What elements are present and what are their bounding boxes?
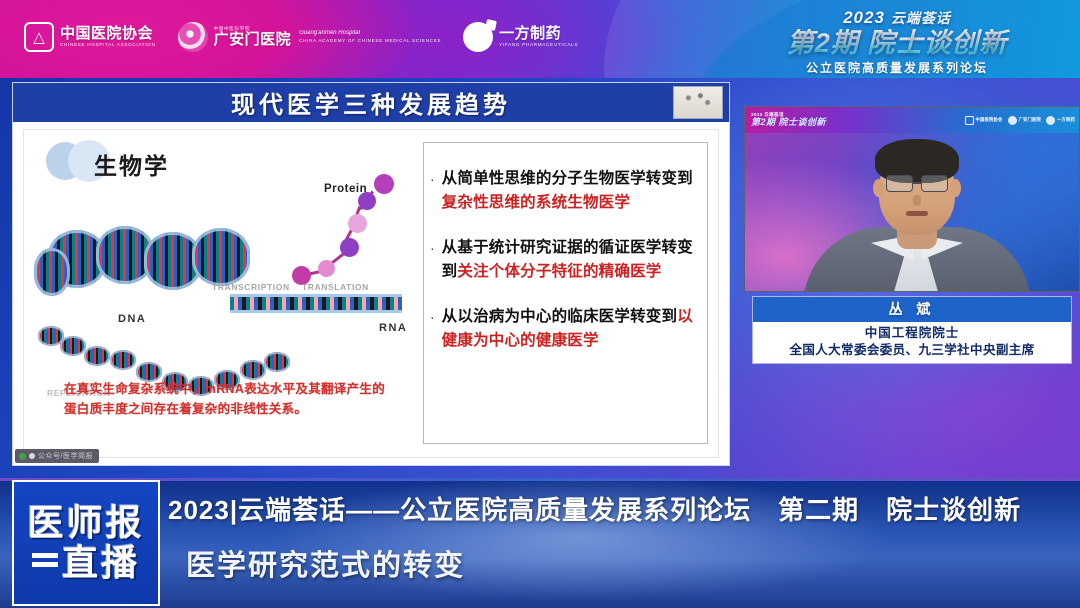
watermark-text: 公众号/医学简报	[38, 451, 93, 461]
bullet-item: · 从简单性思维的分子生物医学转变到复杂性思维的系统生物医学	[430, 167, 697, 214]
yifang-pharmaceutical-icon	[463, 22, 493, 52]
slide-title: 现代医学三种发展趋势	[231, 85, 511, 120]
broadcaster-live-label: 直播	[32, 544, 140, 582]
speaker-mouth	[906, 211, 928, 216]
event-year-cn: 云端荟话	[891, 10, 951, 26]
label-dna: DNA	[118, 313, 146, 325]
video-banner-title: 第2期 院士谈创新	[751, 118, 826, 127]
bullet-text-highlight: 关注个体分子特征的精确医学	[457, 263, 661, 280]
yifang-pharmaceutical-icon	[1046, 116, 1055, 125]
speaker-figure	[745, 107, 1080, 292]
video-logo-3-text: 一方制药	[1057, 117, 1075, 123]
rna-strand	[230, 294, 402, 313]
dna-helix-segment	[34, 248, 70, 296]
bullet-text-highlight: 复杂性思维的系统生物医学	[442, 194, 630, 211]
slide-body: 生物学	[13, 122, 729, 465]
slide-watermark: 公众号/医学简报	[15, 449, 99, 463]
bullet-marker: ·	[430, 305, 435, 352]
event-branding: 2023云端荟话 第2期 院士谈创新 公立医院高质量发展系列论坛	[742, 8, 1052, 76]
speaker-glasses-right-lens	[921, 175, 948, 192]
bullet-text: 从以治病为中心的临床医学转变到以健康为中心的健康医学	[442, 305, 697, 352]
event-subtitle: 公立医院高质量发展系列论坛	[742, 59, 1052, 76]
logo-2-name-cn: 广安门医院	[214, 32, 292, 48]
speaker-glasses-bridge	[913, 182, 921, 184]
replication-segment	[110, 350, 136, 370]
speaker-glasses-left-lens	[886, 175, 913, 192]
bullet-text-normal: 从简单性思维的分子生物医学转变到	[442, 170, 693, 187]
video-banner-left: 2023 云端荟话 第2期 院士谈创新	[751, 113, 826, 127]
logo-2-supertitle: 中国中医科学院	[214, 27, 292, 32]
replication-segment	[264, 352, 290, 372]
speaker-ear-right	[950, 179, 961, 197]
video-logo-2-text: 广安门医院	[1019, 117, 1041, 123]
logo-1-name-en: CHINESE HOSPITAL ASSOCIATION	[60, 43, 156, 48]
slide-title-thumbnail-image	[673, 86, 723, 119]
logo-2-name-en2: Guang'anmen Hospital	[299, 30, 441, 36]
bullet-text: 从基于统计研究证据的循证医学转变到关注个体分子特征的精确医学	[442, 236, 697, 283]
slide-content-frame: 生物学	[23, 129, 719, 458]
slide-title-bar: 现代医学三种发展趋势	[13, 83, 729, 122]
logo-3-name-en: YIFANG PHARMACEUTICALS	[499, 43, 578, 48]
video-banner-logos: 中国医院协会 广安门医院 一方制药	[965, 116, 1075, 125]
bottom-subtitle: 医学研究范式的转变	[186, 542, 1066, 584]
replication-segment	[60, 336, 86, 356]
event-title: 第2期 院士谈创新	[742, 29, 1052, 57]
logo-2-name-en: CHINA ACADEMY OF CHINESE MEDICAL SCIENCE…	[299, 39, 441, 44]
video-logo-3: 一方制药	[1046, 116, 1075, 125]
guanganmen-hospital-icon	[1008, 116, 1017, 125]
speaker-video-panel[interactable]: 2023 云端荟话 第2期 院士谈创新 中国医院协会 广安门医院 一方制药	[744, 106, 1080, 292]
bullet-text: 从简单性思维的分子生物医学转变到复杂性思维的系统生物医学	[442, 167, 697, 214]
broadcaster-logo-block: 医师报 直播	[12, 480, 160, 606]
speaker-nose	[913, 195, 921, 206]
sponsor-logo-row: △ 中国医院协会 CHINESE HOSPITAL ASSOCIATION 中国…	[24, 22, 578, 52]
bullet-item: · 从基于统计研究证据的循证医学转变到关注个体分子特征的精确医学	[430, 236, 697, 283]
replication-segment	[84, 346, 110, 366]
stage-area: 现代医学三种发展趋势 生物学	[0, 78, 1080, 478]
speaker-name: 丛 斌	[753, 297, 1071, 322]
bullet-item: · 从以治病为中心的临床医学转变到以健康为中心的健康医学	[430, 305, 697, 352]
video-logo-2: 广安门医院	[1008, 116, 1041, 125]
speaker-title-block: 中国工程院院士 全国人大常委会委员、九三学社中央副主席	[753, 322, 1071, 363]
protein-node	[348, 214, 367, 233]
logo-yifang-pharmaceutical: 一方制药 YIFANG PHARMACEUTICALS	[463, 22, 578, 52]
label-translation: TRANSLATION	[302, 282, 369, 292]
video-logo-1-text: 中国医院协会	[976, 117, 1003, 123]
bullet-marker: ·	[430, 236, 435, 283]
speaker-title-line-1: 中国工程院院士	[753, 325, 1071, 342]
bullet-list: · 从简单性思维的分子生物医学转变到复杂性思维的系统生物医学 · 从基于统计研究…	[424, 143, 707, 352]
slide-red-caption: 在真实生命复杂系统中，mRNA表达水平及其翻译产生的蛋白质丰度之间存在着复杂的非…	[64, 379, 394, 419]
chinese-hospital-association-icon: △	[24, 22, 54, 52]
bottom-main-title: 2023|云端荟话——公立医院高质量发展系列论坛 第二期 院士谈创新	[168, 490, 1068, 527]
guanganmen-hospital-icon	[178, 22, 208, 52]
logo-3-name-cn: 一方制药	[499, 26, 578, 42]
dna-helix-segment	[192, 228, 250, 286]
label-transcription: TRANSCRIPTION	[212, 282, 290, 292]
chinese-hospital-association-icon	[965, 116, 974, 125]
watermark-green-dot-icon	[19, 453, 26, 460]
event-year: 2023	[843, 8, 885, 27]
broadcaster-name: 医师报	[27, 504, 144, 542]
speaker-title-line-2: 全国人大常委会委员、九三学社中央副主席	[753, 342, 1071, 359]
watermark-gray-dot-icon	[29, 453, 35, 459]
broadcaster-live-text: 直播	[62, 544, 140, 582]
top-banner: △ 中国医院协会 CHINESE HOSPITAL ASSOCIATION 中国…	[0, 0, 1080, 78]
bottom-banner: 医师报 直播 2023|云端荟话——公立医院高质量发展系列论坛 第二期 院士谈创…	[0, 478, 1080, 608]
equals-mark-icon	[32, 550, 58, 576]
label-protein: Protein	[324, 183, 367, 195]
protein-node	[374, 174, 394, 194]
event-year-line: 2023云端荟话	[742, 8, 1052, 28]
label-rna: RNA	[379, 322, 407, 334]
logo-1-name-cn: 中国医院协会	[60, 26, 156, 42]
replication-segment	[240, 360, 266, 380]
logo-chinese-hospital-association: △ 中国医院协会 CHINESE HOSPITAL ASSOCIATION	[24, 22, 156, 52]
logo-guanganmen-hospital: 中国中医科学院 广安门医院 Guang'anmen Hospital CHINA…	[178, 22, 442, 52]
speaker-ear-left	[873, 179, 884, 197]
bullet-list-box: · 从简单性思维的分子生物医学转变到复杂性思维的系统生物医学 · 从基于统计研究…	[423, 142, 708, 444]
protein-node	[318, 260, 335, 277]
video-mini-banner: 2023 云端荟话 第2期 院士谈创新 中国医院协会 广安门医院 一方制药	[745, 107, 1080, 133]
bullet-marker: ·	[430, 167, 435, 214]
video-logo-1: 中国医院协会	[965, 116, 1003, 125]
presentation-slide: 现代医学三种发展趋势 生物学	[12, 82, 730, 466]
protein-node	[340, 238, 359, 257]
central-dogma-diagram: DNA RNA Protein TRANSCRIPTION TRANSLATIO…	[34, 170, 424, 405]
speaker-name-plate: 丛 斌 中国工程院院士 全国人大常委会委员、九三学社中央副主席	[752, 296, 1072, 364]
bullet-text-normal: 从以治病为中心的临床医学转变到	[442, 308, 678, 325]
